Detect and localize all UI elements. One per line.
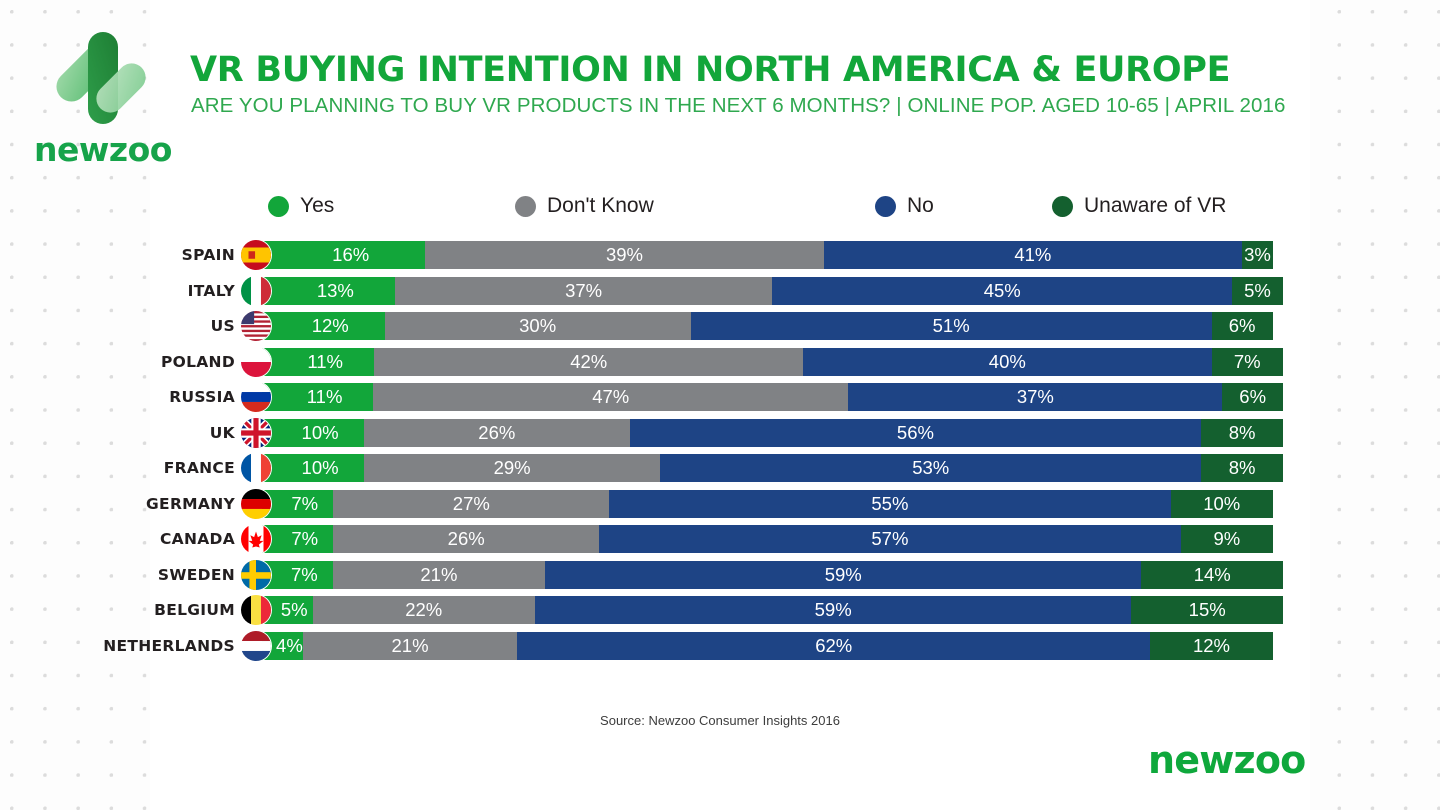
bar-segment-value: 14% xyxy=(1194,564,1231,586)
bar-segment-value: 53% xyxy=(912,457,949,479)
legend-dot-icon xyxy=(875,196,896,217)
bar-segment-no: 45% xyxy=(772,277,1231,305)
bar-segment-value: 30% xyxy=(519,315,556,337)
country-label: CANADA xyxy=(160,525,235,553)
bar-segment-value: 59% xyxy=(825,564,862,586)
footer-wordmark: newzoo xyxy=(1148,738,1305,782)
country-label: RUSSIA xyxy=(169,383,235,411)
bar-segment-yes: 16% xyxy=(262,241,425,269)
bar-segment-yes: 7% xyxy=(262,561,333,589)
bar-segment-value: 12% xyxy=(298,315,349,337)
stacked-bar: 7%21%59%14% xyxy=(262,561,1283,589)
bar-segment-value: 29% xyxy=(494,457,531,479)
bar-segment-value: 6% xyxy=(1239,386,1266,408)
flag-uk-icon xyxy=(240,417,272,449)
bar-segment-value: 37% xyxy=(1017,386,1054,408)
bar-segment-unaware: 12% xyxy=(1150,632,1273,660)
flag-canada-icon xyxy=(240,523,272,555)
legend-label: Yes xyxy=(300,194,334,218)
flag-sweden-icon xyxy=(240,559,272,591)
stacked-bar: 13%37%45%5% xyxy=(262,277,1283,305)
bar-segment-dont-know: 30% xyxy=(385,312,691,340)
bar-segment-no: 56% xyxy=(630,419,1202,447)
bar-segment-value: 57% xyxy=(871,528,908,550)
stacked-bar: 4%21%62%12% xyxy=(262,632,1283,660)
bar-segment-value: 39% xyxy=(606,244,643,266)
bar-segment-value: 16% xyxy=(318,244,369,266)
bar-segment-value: 47% xyxy=(592,386,629,408)
country-label: SPAIN xyxy=(182,241,235,269)
legend-dot-icon xyxy=(268,196,289,217)
brand-wordmark: newzoo xyxy=(34,130,160,169)
stacked-bar: 16%39%41%3% xyxy=(262,241,1283,269)
bar-segment-dont-know: 21% xyxy=(333,561,545,589)
stacked-bar: 12%30%51%6% xyxy=(262,312,1283,340)
country-label: ITALY xyxy=(188,277,235,305)
bar-segment-value: 10% xyxy=(288,422,339,444)
chart-row: FRANCE10%29%53%8% xyxy=(0,454,1440,490)
bar-segment-unaware: 6% xyxy=(1222,383,1283,411)
bar-segment-value: 22% xyxy=(405,599,442,621)
legend-label: Unaware of VR xyxy=(1084,194,1226,218)
legend-item-no[interactable]: No xyxy=(875,188,934,224)
bar-segment-value: 12% xyxy=(1193,635,1230,657)
bar-segment-value: 40% xyxy=(989,351,1026,373)
stacked-bar: 5%22%59%15% xyxy=(262,596,1283,624)
stacked-bar: 11%47%37%6% xyxy=(262,383,1283,411)
flag-russia-icon xyxy=(240,381,272,413)
bar-segment-unaware: 3% xyxy=(1242,241,1273,269)
flag-spain-icon xyxy=(240,239,272,271)
chart-row: CANADA7%26%57%9% xyxy=(0,525,1440,561)
bar-segment-unaware: 14% xyxy=(1141,561,1283,589)
bar-segment-yes: 10% xyxy=(262,454,364,482)
country-label: FRANCE xyxy=(164,454,235,482)
bar-segment-dont-know: 47% xyxy=(373,383,848,411)
page-subtitle: ARE YOU PLANNING TO BUY VR PRODUCTS IN T… xyxy=(191,94,1285,118)
newzoo-logo-icon xyxy=(36,22,154,134)
flag-germany-icon xyxy=(240,488,272,520)
flag-france-icon xyxy=(240,452,272,484)
bar-segment-value: 59% xyxy=(815,599,852,621)
bar-segment-no: 62% xyxy=(517,632,1150,660)
bar-segment-no: 37% xyxy=(848,383,1222,411)
country-label: GERMANY xyxy=(146,490,235,518)
bar-segment-value: 8% xyxy=(1229,457,1256,479)
stacked-bar: 7%27%55%10% xyxy=(262,490,1283,518)
legend-dot-icon xyxy=(1052,196,1073,217)
bar-segment-value: 21% xyxy=(420,564,457,586)
bar-segment-yes: 11% xyxy=(262,383,373,411)
bar-segment-value: 42% xyxy=(570,351,607,373)
chart-row: UK10%26%56%8% xyxy=(0,419,1440,455)
country-label: POLAND xyxy=(161,348,235,376)
bar-segment-value: 8% xyxy=(1229,422,1256,444)
infographic-page: newzoo VR BUYING INTENTION IN NORTH AMER… xyxy=(0,0,1440,810)
stacked-bar-chart: SPAIN16%39%41%3%ITALY13%37%45%5%US12%30%… xyxy=(0,241,1440,667)
bar-segment-dont-know: 29% xyxy=(364,454,660,482)
bar-segment-dont-know: 42% xyxy=(374,348,803,376)
chart-row: NETHERLANDS4%21%62%12% xyxy=(0,632,1440,668)
flag-italy-icon xyxy=(240,275,272,307)
bar-segment-no: 41% xyxy=(824,241,1243,269)
source-note: Source: Newzoo Consumer Insights 2016 xyxy=(0,713,1440,728)
bar-segment-unaware: 15% xyxy=(1131,596,1283,624)
bar-segment-yes: 7% xyxy=(262,490,333,518)
bar-segment-value: 15% xyxy=(1189,599,1226,621)
bar-segment-unaware: 9% xyxy=(1181,525,1273,553)
bar-segment-no: 59% xyxy=(545,561,1141,589)
bar-segment-value: 11% xyxy=(293,351,343,373)
bar-segment-yes: 11% xyxy=(262,348,374,376)
bar-segment-value: 7% xyxy=(277,564,318,586)
chart-row: POLAND11%42%40%7% xyxy=(0,348,1440,384)
bar-segment-dont-know: 37% xyxy=(395,277,773,305)
bar-segment-unaware: 8% xyxy=(1201,454,1283,482)
bar-segment-no: 55% xyxy=(609,490,1171,518)
bar-segment-no: 53% xyxy=(660,454,1201,482)
bar-segment-no: 57% xyxy=(599,525,1181,553)
country-label: BELGIUM xyxy=(154,596,235,624)
bar-segment-value: 7% xyxy=(277,493,318,515)
stacked-bar: 10%26%56%8% xyxy=(262,419,1283,447)
chart-row: BELGIUM5%22%59%15% xyxy=(0,596,1440,632)
bar-segment-unaware: 10% xyxy=(1171,490,1273,518)
country-label: US xyxy=(211,312,235,340)
bar-segment-value: 21% xyxy=(392,635,429,657)
legend-item-yes[interactable]: Yes xyxy=(268,188,334,224)
bar-segment-value: 45% xyxy=(984,280,1021,302)
bar-segment-yes: 7% xyxy=(262,525,333,553)
bar-segment-unaware: 5% xyxy=(1232,277,1283,305)
bar-segment-value: 11% xyxy=(293,386,343,408)
bar-segment-value: 5% xyxy=(267,599,308,621)
legend-label: Don't Know xyxy=(547,194,654,218)
bar-segment-dont-know: 39% xyxy=(425,241,823,269)
bar-segment-dont-know: 27% xyxy=(333,490,609,518)
bar-segment-unaware: 7% xyxy=(1212,348,1283,376)
bar-segment-yes: 10% xyxy=(262,419,364,447)
legend-label: No xyxy=(907,194,934,218)
bar-segment-value: 7% xyxy=(1234,351,1261,373)
bar-segment-value: 26% xyxy=(448,528,485,550)
legend-dot-icon xyxy=(515,196,536,217)
bar-segment-unaware: 8% xyxy=(1201,419,1283,447)
bar-segment-yes: 12% xyxy=(262,312,385,340)
flag-us-icon xyxy=(240,310,272,342)
stacked-bar: 10%29%53%8% xyxy=(262,454,1283,482)
bar-segment-value: 6% xyxy=(1229,315,1256,337)
page-title: VR BUYING INTENTION IN NORTH AMERICA & E… xyxy=(190,50,1230,90)
legend-item-unaware-of-vr[interactable]: Unaware of VR xyxy=(1052,188,1226,224)
bar-segment-value: 26% xyxy=(478,422,515,444)
flag-netherlands-icon xyxy=(240,630,272,662)
bar-segment-value: 41% xyxy=(1014,244,1051,266)
flag-poland-icon xyxy=(240,346,272,378)
bar-segment-yes: 13% xyxy=(262,277,395,305)
bar-segment-no: 51% xyxy=(691,312,1212,340)
bar-segment-unaware: 6% xyxy=(1212,312,1273,340)
bar-segment-value: 13% xyxy=(303,280,354,302)
bar-segment-dont-know: 22% xyxy=(313,596,535,624)
chart-row: SWEDEN7%21%59%14% xyxy=(0,561,1440,597)
country-label: NETHERLANDS xyxy=(103,632,235,660)
legend-item-don-t-know[interactable]: Don't Know xyxy=(515,188,654,224)
chart-row: SPAIN16%39%41%3% xyxy=(0,241,1440,277)
bar-segment-dont-know: 26% xyxy=(333,525,598,553)
bar-segment-value: 56% xyxy=(897,422,934,444)
country-label: SWEDEN xyxy=(158,561,235,589)
bar-segment-value: 3% xyxy=(1244,244,1271,266)
chart-row: US12%30%51%6% xyxy=(0,312,1440,348)
bar-segment-value: 55% xyxy=(871,493,908,515)
bar-segment-value: 51% xyxy=(933,315,970,337)
bar-segment-value: 10% xyxy=(1203,493,1240,515)
bar-segment-no: 59% xyxy=(535,596,1131,624)
bar-segment-value: 5% xyxy=(1244,280,1271,302)
bar-segment-value: 9% xyxy=(1213,528,1240,550)
chart-row: ITALY13%37%45%5% xyxy=(0,277,1440,313)
stacked-bar: 7%26%57%9% xyxy=(262,525,1283,553)
bar-segment-value: 27% xyxy=(453,493,490,515)
country-label: UK xyxy=(210,419,235,447)
bar-segment-value: 37% xyxy=(565,280,602,302)
chart-legend: YesDon't KnowNoUnaware of VR xyxy=(150,188,1310,224)
bar-segment-dont-know: 21% xyxy=(303,632,517,660)
chart-row: RUSSIA11%47%37%6% xyxy=(0,383,1440,419)
bar-segment-value: 10% xyxy=(288,457,339,479)
flag-belgium-icon xyxy=(240,594,272,626)
bar-segment-value: 62% xyxy=(815,635,852,657)
chart-row: GERMANY7%27%55%10% xyxy=(0,490,1440,526)
bar-segment-no: 40% xyxy=(803,348,1211,376)
bar-segment-dont-know: 26% xyxy=(364,419,629,447)
bar-segment-value: 7% xyxy=(277,528,318,550)
stacked-bar: 11%42%40%7% xyxy=(262,348,1283,376)
